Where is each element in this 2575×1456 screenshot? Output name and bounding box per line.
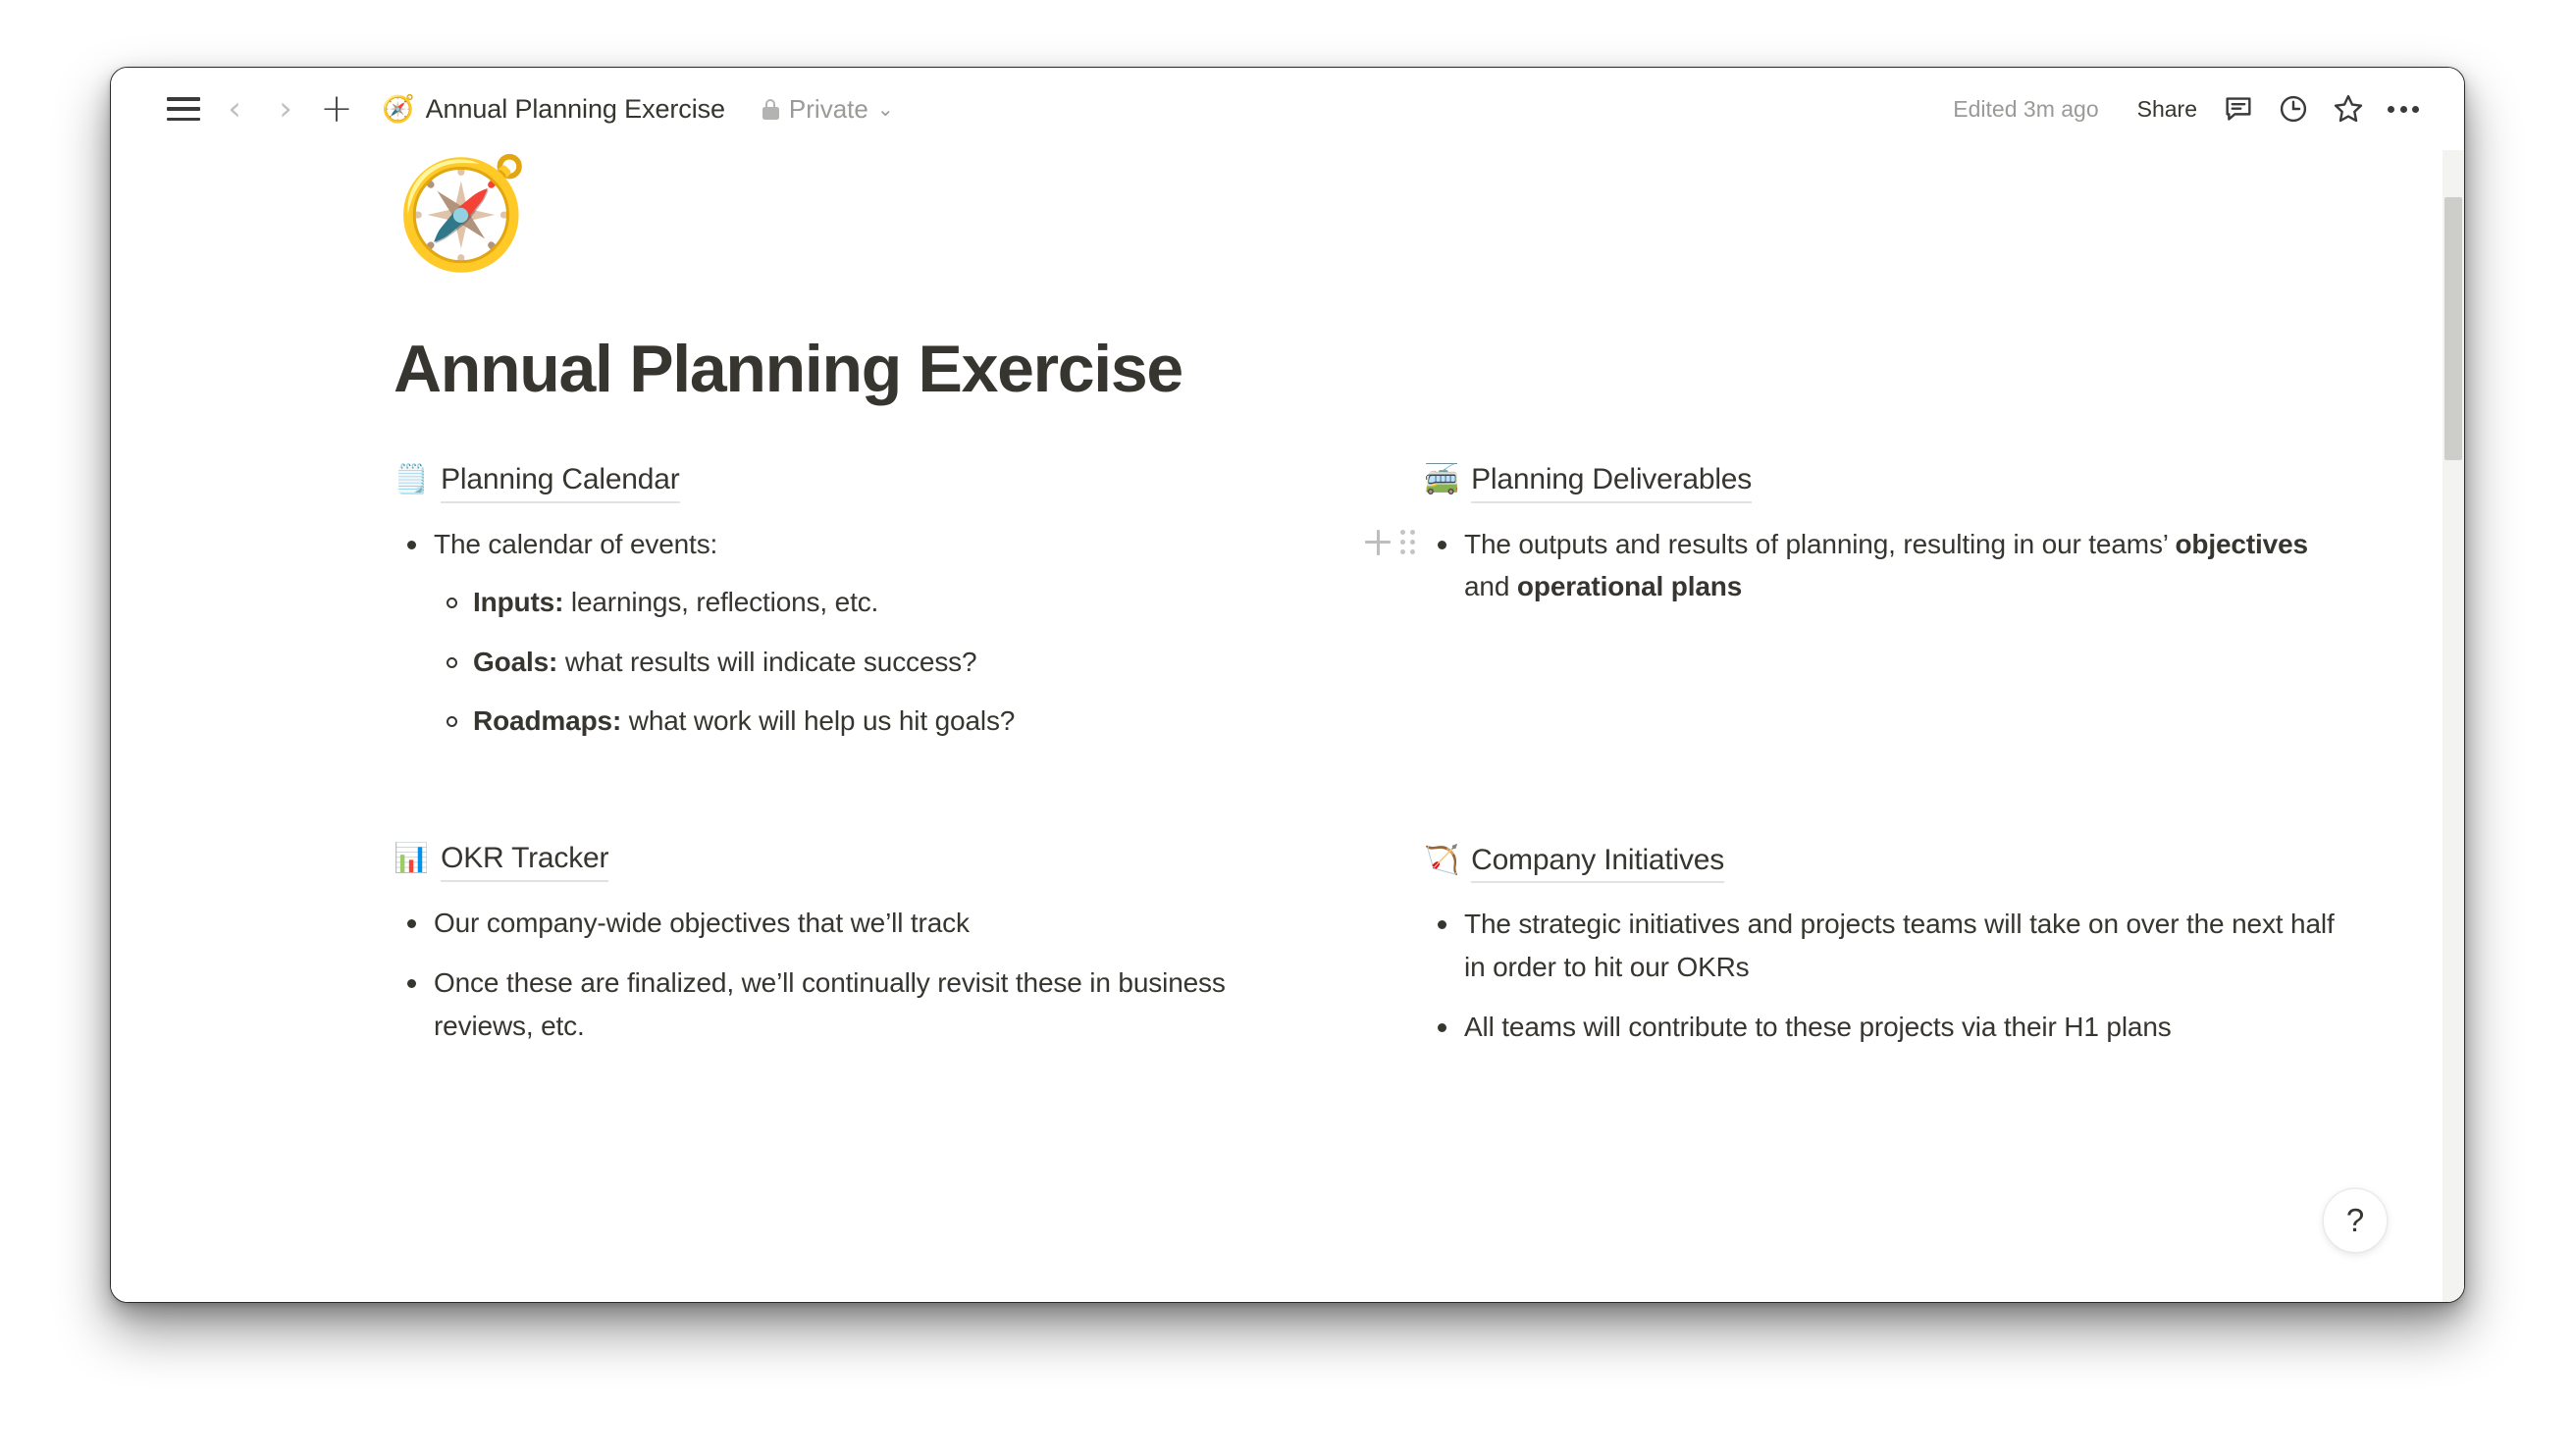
favorite-button[interactable]: [2321, 81, 2376, 136]
two-column-layout: 🗒️ Planning Calendar The calendar of eve…: [111, 461, 2464, 1057]
page-scroll-area: 🧭 Annual Planning Exercise 🗒️ Planning C…: [111, 150, 2464, 1302]
list-item-label: Inputs:: [473, 587, 563, 617]
section-planning-deliverables: 🚎 Planning Deliverables The outputs and …: [1424, 461, 2346, 607]
list-item[interactable]: Our company-wide objectives that we’ll t…: [394, 902, 1282, 944]
section-planning-calendar: 🗒️ Planning Calendar The calendar of eve…: [394, 461, 1282, 742]
notepad-icon: 🗒️: [394, 461, 429, 499]
left-column: 🗒️ Planning Calendar The calendar of eve…: [394, 461, 1370, 1057]
section-company-initiatives: 🏹 Company Initiatives The strategic init…: [1424, 842, 2346, 1049]
lock-icon: [762, 99, 779, 120]
link-planning-calendar[interactable]: Planning Calendar: [441, 461, 679, 503]
help-button[interactable]: ?: [2323, 1188, 2388, 1253]
list-item-text: All teams will contribute to these proje…: [1464, 1012, 2172, 1042]
list-item-bold-operational-plans: operational plans: [1517, 571, 1742, 601]
section-heading: 📊 OKR Tracker: [394, 840, 1282, 882]
top-bar: ‹ › + 🧭 Annual Planning Exercise Private…: [111, 68, 2464, 150]
chevron-left-icon: ‹: [228, 92, 241, 126]
list-item-text: The strategic initiatives and projects t…: [1464, 909, 2335, 981]
notion-app-window: ‹ › + 🧭 Annual Planning Exercise Private…: [110, 67, 2465, 1303]
more-horizontal-icon: [2388, 106, 2419, 113]
comments-button[interactable]: [2211, 81, 2266, 136]
plus-icon[interactable]: [1365, 530, 1391, 555]
top-bar-left-group: ‹ › + 🧭 Annual Planning Exercise Private…: [158, 83, 902, 134]
list-item[interactable]: The outputs and results of planning, res…: [1424, 523, 2346, 608]
breadcrumb-compass-icon: 🧭: [382, 96, 415, 123]
list-item-label: Roadmaps:: [473, 705, 621, 736]
trolleybus-icon: 🚎: [1424, 461, 1459, 499]
right-column: 🚎 Planning Deliverables The outputs and …: [1370, 461, 2346, 1057]
privacy-selector[interactable]: Private ⌄: [755, 89, 902, 130]
share-button[interactable]: Share: [2124, 89, 2211, 130]
list-item[interactable]: Goals: what results will indicate succes…: [434, 641, 1282, 683]
list-item[interactable]: Roadmaps: what work will help us hit goa…: [434, 700, 1282, 742]
link-okr-tracker[interactable]: OKR Tracker: [441, 840, 608, 882]
list-item[interactable]: Inputs: learnings, reflections, etc.: [434, 581, 1282, 623]
chevron-down-icon: ⌄: [877, 99, 894, 119]
nested-bullet-list: Inputs: learnings, reflections, etc. Goa…: [434, 581, 1282, 742]
list-item-text: Once these are finalized, we’ll continua…: [434, 967, 1226, 1040]
list-item-conjunction: and: [1464, 571, 1517, 601]
list-item[interactable]: The calendar of events: Inputs: learning…: [394, 523, 1282, 743]
list-item-text: Our company-wide objectives that we’ll t…: [434, 908, 970, 938]
star-outline-icon: [2331, 91, 2366, 127]
link-planning-deliverables[interactable]: Planning Deliverables: [1471, 461, 1752, 503]
last-edited-label[interactable]: Edited 3m ago: [1940, 89, 2111, 130]
block-handles: [1365, 530, 1416, 555]
list-item-text: The calendar of events:: [434, 529, 717, 559]
privacy-label: Private: [789, 94, 868, 125]
bullet-list: Our company-wide objectives that we’ll t…: [394, 902, 1282, 1047]
bar-chart-icon: 📊: [394, 840, 429, 878]
nav-back-button[interactable]: ‹: [209, 83, 260, 134]
section-heading: 🚎 Planning Deliverables: [1424, 461, 2346, 503]
link-company-initiatives[interactable]: Company Initiatives: [1471, 842, 1724, 884]
bow-and-arrow-icon: 🏹: [1424, 842, 1459, 880]
page-history-button[interactable]: [2266, 81, 2321, 136]
page-content: 🧭 Annual Planning Exercise 🗒️ Planning C…: [111, 160, 2464, 1057]
bullet-list: The strategic initiatives and projects t…: [1424, 903, 2346, 1048]
section-heading: 🏹 Company Initiatives: [1424, 842, 2346, 884]
plus-icon: +: [320, 89, 353, 129]
sidebar-toggle-button[interactable]: [158, 83, 209, 134]
comment-bubble-icon: [2222, 92, 2255, 126]
vertical-scrollbar-thumb[interactable]: [2444, 197, 2462, 460]
section-okr-tracker: 📊 OKR Tracker Our company-wide objective…: [394, 840, 1282, 1047]
list-item-text: what work will help us hit goals?: [621, 705, 1015, 736]
nav-forward-button[interactable]: ›: [260, 83, 311, 134]
list-item-text: learnings, reflections, etc.: [563, 587, 878, 617]
hamburger-menu-icon: [167, 97, 200, 121]
chevron-right-icon: ›: [279, 92, 292, 126]
breadcrumb-title: Annual Planning Exercise: [426, 94, 725, 125]
list-item[interactable]: Once these are finalized, we’ll continua…: [394, 962, 1282, 1047]
bullet-list: The calendar of events: Inputs: learning…: [394, 523, 1282, 743]
list-item-text: The outputs and results of planning, res…: [1464, 529, 2175, 559]
page-title[interactable]: Annual Planning Exercise: [394, 335, 2464, 404]
new-page-button[interactable]: +: [311, 83, 362, 134]
bullet-list: The outputs and results of planning, res…: [1424, 523, 2346, 608]
list-item-bold-objectives: objectives: [2175, 529, 2307, 559]
section-heading: 🗒️ Planning Calendar: [394, 461, 1282, 503]
question-mark-icon: ?: [2346, 1204, 2364, 1236]
drag-handle-icon[interactable]: [1400, 530, 1416, 555]
clock-history-icon: [2277, 92, 2310, 126]
list-item[interactable]: The strategic initiatives and projects t…: [1424, 903, 2346, 988]
page-compass-icon[interactable]: 🧭: [395, 160, 523, 268]
vertical-scrollbar-track[interactable]: [2443, 150, 2464, 1302]
breadcrumb[interactable]: 🧭 Annual Planning Exercise: [374, 89, 733, 130]
more-options-button[interactable]: [2376, 81, 2431, 136]
list-item[interactable]: All teams will contribute to these proje…: [1424, 1006, 2346, 1048]
top-bar-right-group: Edited 3m ago Share: [1940, 81, 2431, 136]
list-item-label: Goals:: [473, 647, 557, 677]
list-item-text: what results will indicate success?: [557, 647, 976, 677]
